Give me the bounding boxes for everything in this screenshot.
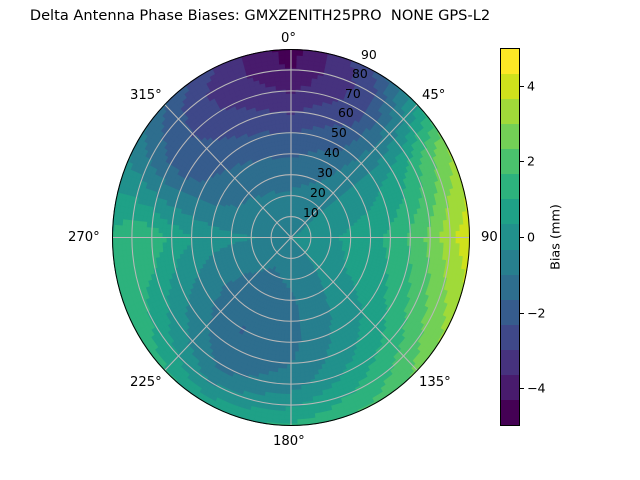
radial-label-70: 70 — [345, 86, 361, 101]
azimuth-label-270: 270° — [68, 230, 100, 245]
colorbar[interactable]: −4−2024 — [500, 48, 520, 426]
radial-label-20: 20 — [310, 185, 326, 200]
colorbar-tick — [520, 86, 524, 87]
radial-label-10: 10 — [303, 205, 319, 220]
azimuth-label-90: 90 — [481, 230, 498, 245]
radial-label-30: 30 — [317, 165, 333, 180]
colorbar-tick — [520, 237, 524, 238]
colorbar-band — [501, 250, 519, 275]
colorbar-band — [501, 174, 519, 199]
radial-label-50: 50 — [331, 125, 347, 140]
colorbar-tick-label: 4 — [527, 78, 535, 93]
radial-label-80: 80 — [352, 66, 368, 81]
radial-label-60: 60 — [338, 105, 354, 120]
azimuth-label-0: 0° — [281, 31, 296, 46]
colorbar-tick-label: 0 — [527, 230, 535, 245]
colorbar-band — [501, 350, 519, 375]
colorbar-gradient — [500, 48, 520, 426]
colorbar-band — [501, 124, 519, 149]
colorbar-tick-label: −4 — [527, 381, 546, 396]
colorbar-band — [501, 375, 519, 400]
colorbar-band — [501, 199, 519, 224]
page-title: Delta Antenna Phase Biases: GMXZENITH25P… — [0, 7, 520, 24]
radial-label-40: 40 — [324, 145, 340, 160]
polar-data-region — [112, 49, 470, 426]
azimuth-label-45: 45° — [422, 88, 445, 103]
colorbar-tick-label: −2 — [527, 305, 546, 320]
azimuth-label-225: 225° — [130, 375, 162, 390]
colorbar-band — [501, 224, 519, 249]
colorbar-axis-label: Bias (mm) — [549, 204, 564, 270]
radial-label-90: 90 — [361, 47, 377, 62]
colorbar-band — [501, 275, 519, 300]
azimuth-label-135: 135° — [419, 375, 451, 390]
colorbar-band — [501, 400, 519, 425]
colorbar-band — [501, 300, 519, 325]
azimuth-label-180: 180° — [273, 434, 305, 449]
polar-axes[interactable] — [112, 49, 470, 426]
colorbar-tick-label: 2 — [527, 154, 535, 169]
figure-canvas: Delta Antenna Phase Biases: GMXZENITH25P… — [0, 0, 640, 480]
colorbar-band — [501, 325, 519, 350]
colorbar-tick — [520, 313, 524, 314]
colorbar-band — [501, 99, 519, 124]
colorbar-band — [501, 49, 519, 74]
colorbar-band — [501, 74, 519, 99]
azimuth-label-315: 315° — [130, 88, 162, 103]
polar-contour-svg — [112, 49, 470, 426]
colorbar-tick — [520, 161, 524, 162]
colorbar-tick — [520, 388, 524, 389]
polar-gridlines — [112, 49, 470, 426]
colorbar-band — [501, 149, 519, 174]
